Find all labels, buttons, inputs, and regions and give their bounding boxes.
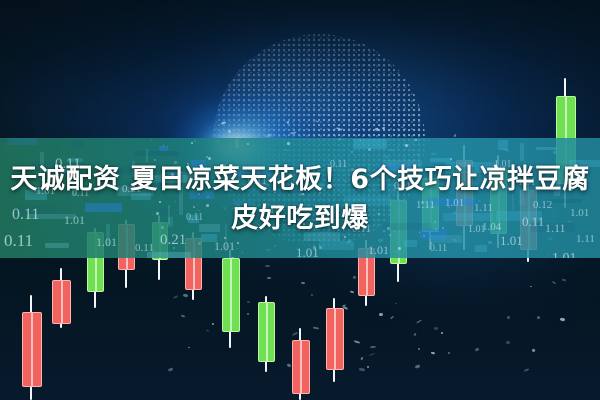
band-bar bbox=[498, 140, 508, 150]
band-spark bbox=[319, 246, 322, 249]
candlestick bbox=[22, 295, 40, 400]
band-spark bbox=[151, 140, 152, 141]
candle-body bbox=[292, 340, 310, 394]
band-bar bbox=[134, 151, 179, 156]
band-spark bbox=[397, 147, 398, 148]
candlestick bbox=[326, 298, 342, 382]
band-bar bbox=[404, 240, 417, 247]
candlestick bbox=[222, 250, 238, 348]
band-spark bbox=[398, 247, 401, 250]
band-spark bbox=[247, 143, 249, 145]
band-spark bbox=[287, 142, 290, 145]
band-number: 0.11 bbox=[135, 243, 154, 254]
band-bar bbox=[235, 138, 239, 148]
band-bar bbox=[45, 243, 69, 248]
band-bar bbox=[159, 146, 168, 151]
band-number: 1.01 bbox=[296, 246, 319, 258]
band-spark bbox=[339, 138, 341, 140]
band-bar bbox=[536, 147, 557, 150]
band-spark bbox=[368, 148, 371, 151]
band-spark bbox=[198, 242, 201, 245]
candle-body bbox=[22, 312, 42, 387]
band-spark bbox=[396, 251, 397, 252]
candle-body bbox=[326, 308, 344, 370]
band-number: 0.11 bbox=[430, 244, 447, 254]
candlestick bbox=[258, 296, 273, 372]
band-spark bbox=[237, 242, 239, 244]
band-spark bbox=[351, 151, 353, 153]
candle-body bbox=[52, 280, 71, 324]
band-number: 1.01 bbox=[368, 244, 389, 256]
band-spark bbox=[405, 144, 408, 147]
candle-body bbox=[258, 302, 275, 362]
headline-line-1: 天诚配资 夏日凉菜天花板！6个技巧让凉拌豆腐 bbox=[0, 160, 600, 199]
candle-body bbox=[222, 258, 240, 332]
band-spark bbox=[415, 139, 417, 141]
headline: 天诚配资 夏日凉菜天花板！6个技巧让凉拌豆腐 皮好吃到爆 bbox=[0, 160, 600, 238]
banner-image: 0.111.010.110.111.010.111.010.210.110.21… bbox=[0, 0, 600, 400]
candlestick bbox=[292, 328, 308, 400]
candlestick bbox=[52, 268, 69, 328]
band-spark bbox=[237, 248, 238, 249]
band-bar bbox=[7, 138, 37, 145]
band-number: 1.01 bbox=[214, 240, 235, 252]
headline-line-2: 皮好吃到爆 bbox=[0, 199, 600, 238]
band-bar bbox=[475, 245, 487, 252]
band-number: 1.01 bbox=[552, 252, 577, 258]
band-spark bbox=[231, 257, 234, 258]
band-bar bbox=[319, 241, 354, 250]
band-spark bbox=[274, 245, 276, 247]
band-spark bbox=[242, 252, 243, 253]
band-bar bbox=[0, 139, 11, 143]
band-spark bbox=[194, 140, 196, 142]
band-bar bbox=[520, 143, 524, 161]
band-bar bbox=[71, 140, 84, 147]
band-spark bbox=[191, 142, 193, 144]
